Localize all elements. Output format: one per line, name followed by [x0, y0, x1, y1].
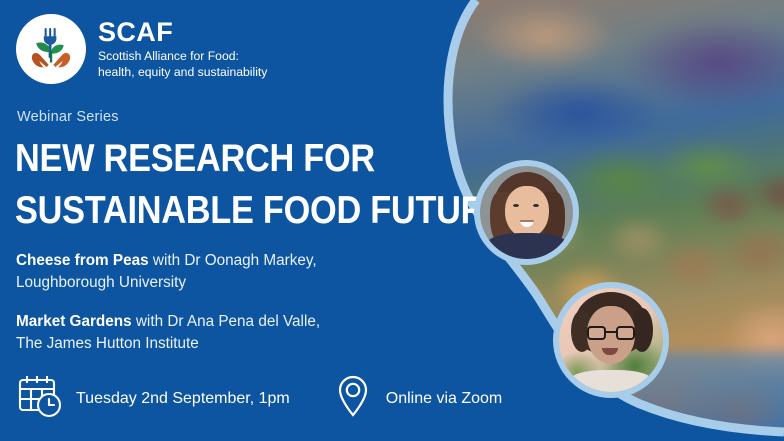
- portrait-image: [480, 166, 573, 259]
- session-title: Market Gardens: [16, 313, 132, 330]
- event-venue-item: Online via Zoom: [332, 372, 503, 425]
- map-pin-icon: [332, 372, 374, 425]
- scaf-logo-fork-plant-hands-icon: [16, 14, 86, 84]
- eyebrow-label: Webinar Series: [17, 109, 119, 125]
- scaf-logo-text: SCAF Scottish Alliance for Food: health,…: [98, 17, 267, 81]
- event-date-label: Tuesday 2nd September, 1pm: [76, 390, 290, 408]
- session-affiliation: Loughborough University: [16, 274, 186, 291]
- scaf-logo-lockup: SCAF Scottish Alliance for Food: health,…: [16, 14, 267, 84]
- session-title: Cheese from Peas: [16, 252, 149, 269]
- event-meta-row: Tuesday 2nd September, 1pm Online via Zo…: [16, 372, 502, 425]
- session-item: Market Gardens with Dr Ana Pena del Vall…: [16, 311, 320, 354]
- webinar-promo-poster: SCAF Scottish Alliance for Food: health,…: [0, 0, 784, 441]
- event-date-item: Tuesday 2nd September, 1pm: [16, 372, 290, 425]
- poster-content: SCAF Scottish Alliance for Food: health,…: [0, 0, 784, 441]
- speaker-portrait-oonagh-markey: [474, 160, 579, 265]
- session-affiliation: The James Hutton Institute: [16, 335, 199, 352]
- session-speaker: with Dr Oonagh Markey,: [149, 252, 317, 269]
- event-venue-label: Online via Zoom: [386, 390, 503, 408]
- speaker-portrait-ana-pena-del-valle: [553, 282, 669, 398]
- calendar-clock-icon: [16, 372, 64, 425]
- session-speaker: with Dr Ana Pena del Valle,: [132, 313, 321, 330]
- portrait-image: [559, 288, 663, 392]
- scaf-tagline: Scottish Alliance for Food: health, equi…: [98, 49, 267, 81]
- session-list: Cheese from Peas with Dr Oonagh Markey, …: [16, 250, 320, 355]
- page-title: NEW RESEARCH FOR SUSTAINABLE FOOD FUTURE…: [15, 133, 530, 237]
- scaf-acronym: SCAF: [98, 19, 267, 46]
- session-item: Cheese from Peas with Dr Oonagh Markey, …: [16, 250, 320, 293]
- portrait-face: [480, 166, 573, 259]
- portrait-face: [559, 288, 663, 392]
